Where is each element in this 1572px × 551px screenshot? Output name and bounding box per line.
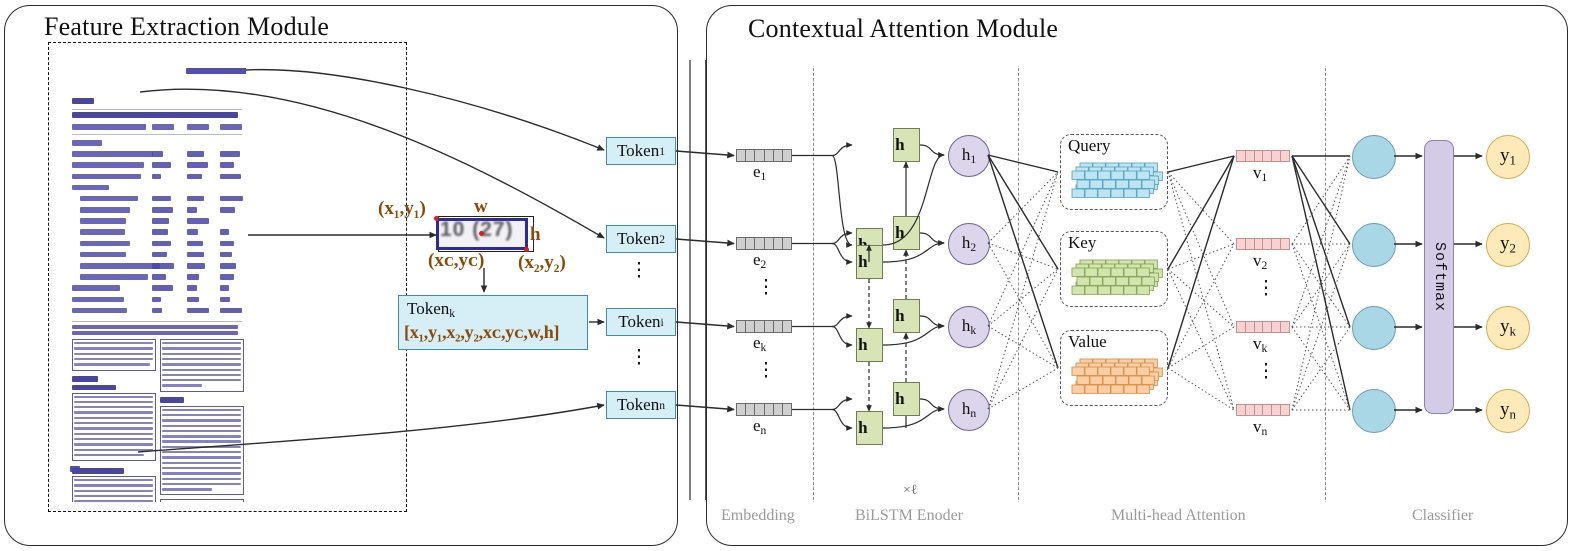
embedding-ellipsis-upper: ⋮ (756, 285, 776, 290)
embedding-vector-k (736, 320, 792, 333)
label-h: h (530, 224, 541, 246)
output-node-1: y1 (1486, 135, 1530, 179)
key-brick-icon (1069, 258, 1163, 300)
token-box-1: Token1 (606, 137, 676, 165)
stage-label-classifier: Classifier (1412, 507, 1473, 525)
lstm-backward-cell-1: h⃖ (893, 128, 920, 162)
page-title-feature-extraction: Feature Extraction Module (44, 12, 329, 42)
embedding-label-2: e2 (753, 250, 766, 271)
output-node-n: yn (1486, 389, 1530, 433)
embedding-label-n: en (753, 416, 766, 437)
hidden-state-1: h1 (948, 135, 990, 177)
stage-label-attention: Multi-head Attention (1111, 507, 1246, 525)
token-box-n: Tokenn (606, 391, 676, 419)
divider-attention (1325, 68, 1326, 500)
token-k-feature-vector: [x₁,y₁,x₂,y₂,xᴄ,yᴄ,w,h] (404, 322, 559, 343)
corner-dot-topleft (434, 216, 439, 221)
classifier-node-n (1352, 389, 1396, 433)
lstm-forward-cell-k: h⃗ (856, 328, 883, 362)
lstm-forward-cell-n: h⃗ (856, 411, 883, 445)
center-dot (479, 231, 484, 236)
token-k-label: Tokenk (407, 299, 455, 320)
value-vector-label-1: v1 (1253, 163, 1267, 184)
token-box-i: Tokeni (606, 308, 676, 336)
attention-block-value: Value (1060, 330, 1168, 406)
embedding-vector-n (736, 403, 792, 416)
lstm-forward-cell-2: h⃗ (856, 245, 883, 279)
value-brick-icon (1069, 357, 1163, 399)
value-label: Value (1068, 332, 1107, 352)
classifier-node-k (1352, 306, 1396, 350)
document-thumbnail (68, 62, 246, 502)
lstm-backward-cell-n: h⃖ (893, 382, 920, 416)
embedding-ellipsis-lower: ⋮ (756, 368, 776, 373)
stage-label-bilstm: BiLSTM Enoder (855, 507, 963, 525)
value-vector-label-n: vn (1253, 417, 1267, 438)
query-label: Query (1068, 136, 1110, 156)
embedding-vector-2 (736, 237, 792, 250)
value-vector-n (1236, 404, 1290, 416)
lstm-backward-cell-k: h⃖ (893, 299, 920, 333)
value-vector-1 (1236, 150, 1290, 162)
divider-embedding (813, 68, 814, 500)
token-ellipsis-lower: ⋮ (629, 355, 649, 360)
classifier-node-1 (1352, 135, 1396, 179)
label-xcyc: (xᴄ,yᴄ) (428, 250, 484, 272)
label-x1y1: (x₁,y₁) (378, 198, 426, 220)
token-box-2: Token2 (606, 225, 676, 253)
page-title-contextual-attention: Contextual Attention Module (748, 14, 1058, 44)
label-x2y2: (x₂,y₂) (518, 252, 566, 274)
token-ellipsis-upper: ⋮ (629, 268, 649, 273)
embedding-label-k: ek (753, 333, 766, 354)
divider-bilstm (1018, 68, 1019, 500)
embedding-label-1: e1 (753, 162, 766, 183)
classifier-node-2 (1352, 223, 1396, 267)
embedding-vector-1 (736, 149, 792, 162)
detection-bounding-box: 10 (27) (436, 215, 536, 255)
lstm-backward-cell-2: h⃖ (893, 216, 920, 250)
value-vector-label-k: vk (1253, 334, 1267, 355)
attention-block-key: Key (1060, 231, 1168, 307)
token-k-box: Tokenk [x₁,y₁,x₂,y₂,xᴄ,yᴄ,w,h] (398, 295, 588, 350)
hidden-state-k: hk (948, 306, 990, 348)
value-vector-k (1236, 321, 1290, 333)
key-label: Key (1068, 233, 1096, 253)
softmax-layer: Softmax (1424, 140, 1454, 414)
output-node-k: yk (1486, 306, 1530, 350)
stage-label-embedding: Embedding (721, 507, 795, 525)
repeat-marker: ×ℓ (903, 483, 918, 499)
value-vector-ellipsis-upper: ⋮ (1256, 286, 1276, 291)
value-vector-ellipsis-lower: ⋮ (1256, 369, 1276, 374)
query-brick-icon (1069, 161, 1163, 203)
hidden-state-n: hn (948, 389, 990, 431)
label-w: w (474, 196, 488, 218)
value-vector-label-2: v2 (1253, 251, 1267, 272)
attention-block-query: Query (1060, 134, 1168, 210)
softmax-label: Softmax (1425, 141, 1453, 413)
hidden-state-2: h2 (948, 223, 990, 265)
value-vector-2 (1236, 238, 1290, 250)
output-node-2: y2 (1486, 223, 1530, 267)
